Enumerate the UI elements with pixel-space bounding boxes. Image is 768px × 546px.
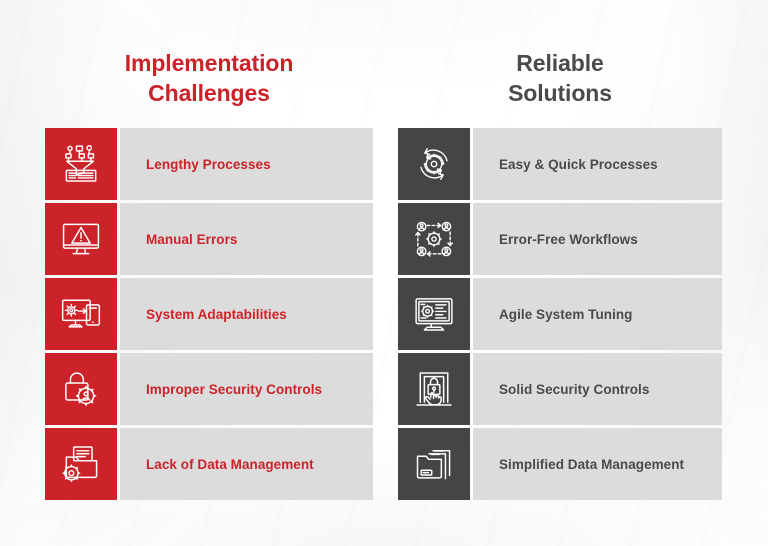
list-item-label: Solid Security Controls <box>473 382 649 397</box>
list-item-label: Simplified Data Management <box>473 457 684 472</box>
list-item-label: Error-Free Workflows <box>473 232 638 247</box>
list-item[interactable]: Easy & Quick Processes <box>398 128 722 200</box>
label-bar: Easy & Quick Processes <box>473 128 722 200</box>
label-bar: Solid Security Controls <box>473 353 722 425</box>
label-bar: Lengthy Processes <box>120 128 373 200</box>
list-item[interactable]: Lack of Data Management <box>45 428 373 500</box>
list-item[interactable]: Agile System Tuning <box>398 278 722 350</box>
right-column-heading: Reliable Solutions <box>398 48 722 108</box>
folder-document-gear-icon <box>45 428 117 500</box>
workflow-users-gear-icon <box>398 203 470 275</box>
gear-refresh-cycle-icon <box>398 128 470 200</box>
monitor-gear-code-icon <box>398 278 470 350</box>
padlock-user-gear-icon <box>45 353 117 425</box>
stacked-folders-icon <box>398 428 470 500</box>
funnel-data-icon <box>45 128 117 200</box>
label-bar: System Adaptabilities <box>120 278 373 350</box>
challenges-list: Lengthy Processes Manual Errors <box>45 128 373 503</box>
monitor-warning-icon <box>45 203 117 275</box>
comparison-board: Implementation Challenges Reliable Solut… <box>0 0 768 546</box>
list-item-label: Improper Security Controls <box>120 382 322 397</box>
door-lock-hand-icon <box>398 353 470 425</box>
label-bar: Manual Errors <box>120 203 373 275</box>
list-item[interactable]: Simplified Data Management <box>398 428 722 500</box>
list-item[interactable]: Lengthy Processes <box>45 128 373 200</box>
list-item-label: Agile System Tuning <box>473 307 632 322</box>
left-heading-line1: Implementation <box>125 50 294 76</box>
list-item-label: Lack of Data Management <box>120 457 314 472</box>
monitor-gear-mobile-icon <box>45 278 117 350</box>
label-bar: Error-Free Workflows <box>473 203 722 275</box>
right-heading-line1: Reliable <box>516 50 603 76</box>
list-item-label: Easy & Quick Processes <box>473 157 658 172</box>
label-bar: Simplified Data Management <box>473 428 722 500</box>
list-item-label: Lengthy Processes <box>120 157 271 172</box>
label-bar: Improper Security Controls <box>120 353 373 425</box>
list-item-label: System Adaptabilities <box>120 307 287 322</box>
label-bar: Lack of Data Management <box>120 428 373 500</box>
list-item-label: Manual Errors <box>120 232 237 247</box>
list-item[interactable]: Error-Free Workflows <box>398 203 722 275</box>
list-item[interactable]: Manual Errors <box>45 203 373 275</box>
left-column-heading: Implementation Challenges <box>45 48 373 108</box>
left-heading-line2: Challenges <box>45 78 373 108</box>
list-item[interactable]: Solid Security Controls <box>398 353 722 425</box>
right-heading-line2: Solutions <box>398 78 722 108</box>
list-item[interactable]: Improper Security Controls <box>45 353 373 425</box>
list-item[interactable]: System Adaptabilities <box>45 278 373 350</box>
solutions-list: Easy & Quick Processes <box>398 128 722 503</box>
label-bar: Agile System Tuning <box>473 278 722 350</box>
